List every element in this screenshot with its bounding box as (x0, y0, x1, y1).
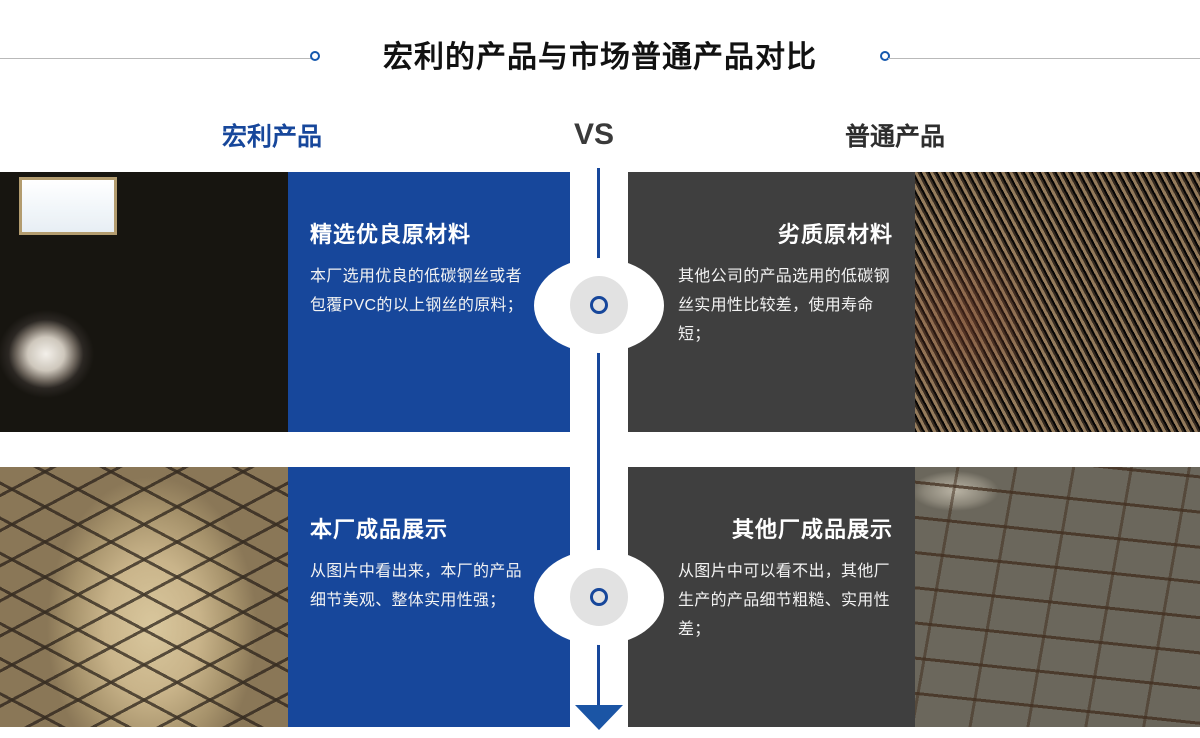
circle-node-icon (590, 588, 608, 606)
panel-ours: 精选优良原材料 本厂选用优良的低碳钢丝或者包覆PVC的以上钢丝的原料； (288, 172, 570, 432)
wire-coils-image (0, 172, 288, 432)
panel-theirs: 劣质原材料 其他公司的产品选用的低碳钢丝实用性比较差，使用寿命短； (628, 172, 915, 432)
triangle-down-icon (575, 705, 623, 730)
photo-ours (0, 172, 288, 432)
panel-body-ours: 从图片中看出来，本厂的产品细节美观、整体实用性强； (310, 557, 525, 615)
center-node (534, 550, 664, 645)
panel-body-theirs: 其他公司的产品选用的低碳钢丝实用性比较差，使用寿命短； (678, 262, 893, 349)
column-label-vs: VS (574, 117, 614, 153)
panel-title-theirs: 其他厂成品展示 (628, 515, 893, 545)
panel-title-ours: 精选优良原材料 (310, 220, 570, 250)
center-node (534, 258, 664, 353)
panel-body-theirs: 从图片中可以看不出，其他厂生产的产品细节粗糙、实用性差； (678, 557, 893, 644)
column-label-ours: 宏利产品 (222, 119, 322, 155)
photo-theirs (915, 172, 1200, 432)
circle-outline-icon-right (880, 51, 890, 61)
panel-ours: 本厂成品展示 从图片中看出来，本厂的产品细节美观、整体实用性强； (288, 467, 570, 727)
panel-body-ours: 本厂选用优良的低碳钢丝或者包覆PVC的以上钢丝的原料； (310, 262, 525, 320)
circle-node-icon (590, 296, 608, 314)
panel-theirs: 其他厂成品展示 从图片中可以看不出，其他厂生产的产品细节粗糙、实用性差； (628, 467, 915, 727)
header-rule-right (888, 58, 1200, 59)
photo-ours (0, 467, 288, 727)
panel-title-ours: 本厂成品展示 (310, 515, 570, 545)
photo-theirs (915, 467, 1200, 727)
panel-title-theirs: 劣质原材料 (628, 220, 893, 250)
column-label-theirs: 普通产品 (845, 119, 945, 155)
page-header: 宏利的产品与市场普通产品对比 (0, 0, 1200, 112)
rock-wall-image (915, 467, 1200, 727)
gabion-boulder-image (0, 467, 288, 727)
rusty-wire-image (915, 172, 1200, 432)
